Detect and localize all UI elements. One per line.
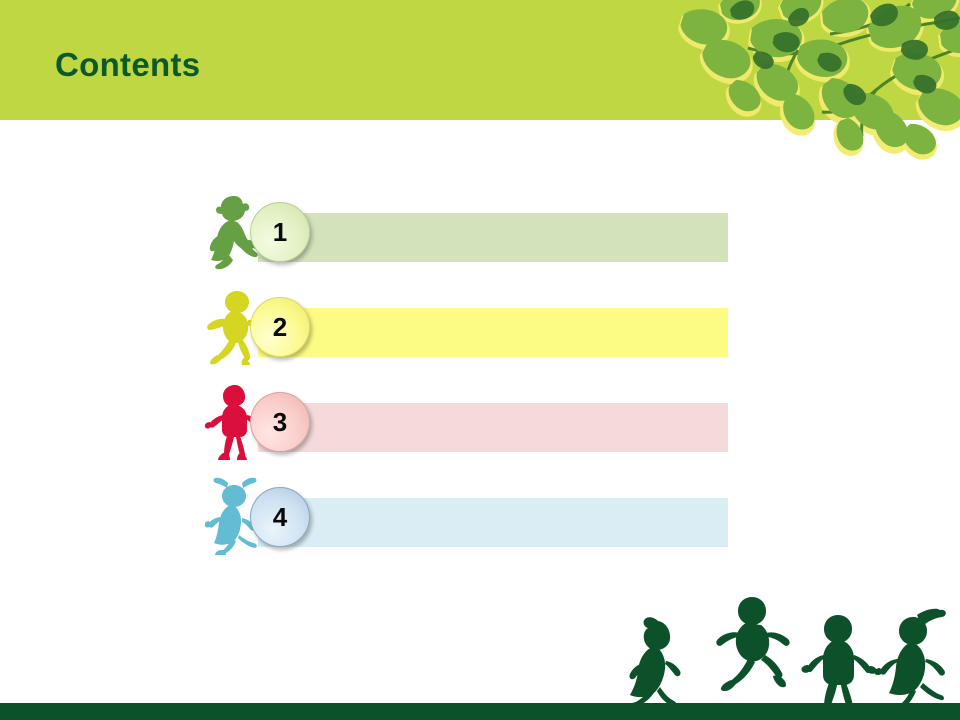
contents-bar-1[interactable] (258, 213, 728, 262)
contents-badge-3[interactable]: 3 (250, 392, 310, 452)
contents-row-3[interactable]: 3 (0, 380, 960, 475)
contents-row-4[interactable]: 4 (0, 475, 960, 570)
contents-bar-2[interactable] (258, 308, 728, 357)
children-silhouettes-icon (610, 575, 960, 707)
contents-slide: Contents (0, 0, 960, 720)
page-title: Contents (55, 46, 200, 84)
contents-number-4: 4 (251, 488, 309, 546)
contents-row-2[interactable]: 2 (0, 285, 960, 380)
contents-badge-4[interactable]: 4 (250, 487, 310, 547)
footer-band (0, 703, 960, 720)
contents-bar-4[interactable] (258, 498, 728, 547)
contents-number-3: 3 (251, 393, 309, 451)
contents-bar-3[interactable] (258, 403, 728, 452)
contents-number-2: 2 (251, 298, 309, 356)
contents-number-1: 1 (251, 203, 309, 261)
contents-badge-2[interactable]: 2 (250, 297, 310, 357)
contents-badge-1[interactable]: 1 (250, 202, 310, 262)
contents-row-1[interactable]: 1 (0, 190, 960, 285)
